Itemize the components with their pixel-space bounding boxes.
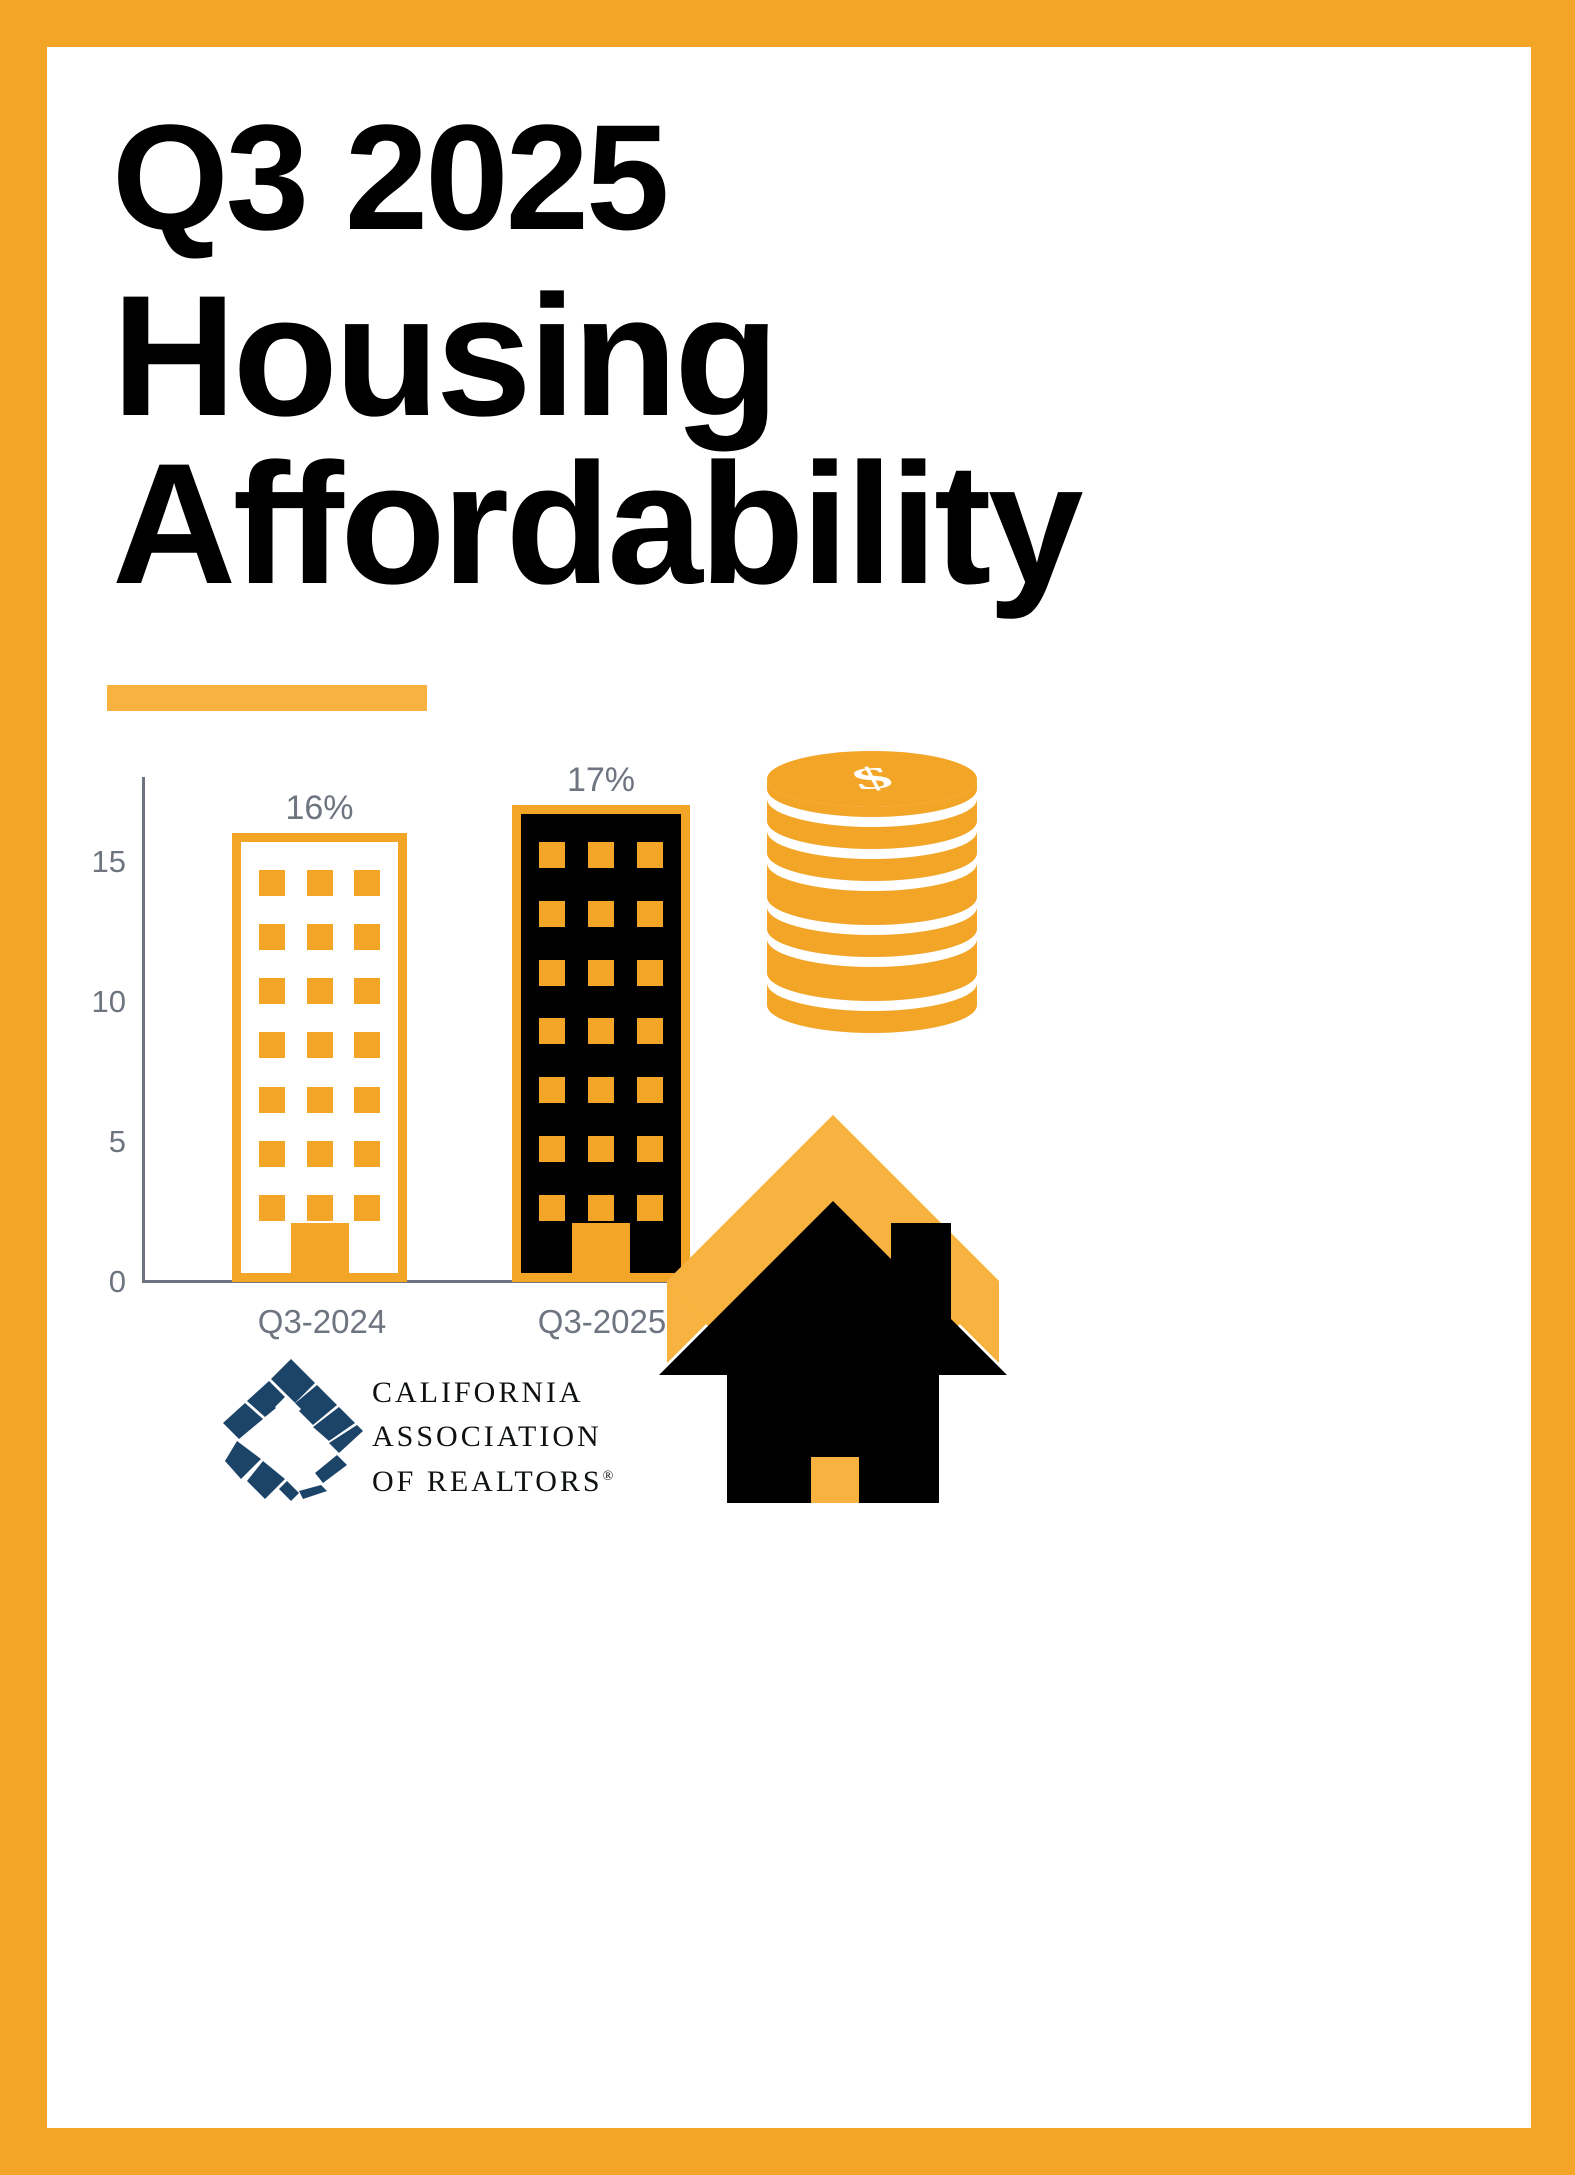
registered-trademark-icon: ® xyxy=(603,1469,614,1484)
coin-stack-icon: $ xyxy=(737,737,1007,1057)
window-cell xyxy=(354,1087,380,1113)
y-tick-15: 15 xyxy=(92,844,142,880)
y-tick-5: 5 xyxy=(109,1124,142,1160)
window-cell xyxy=(307,1195,333,1221)
window-cell xyxy=(259,870,285,896)
page-title: Q3 2025 Housing Affordability xyxy=(112,105,1472,608)
window-cell xyxy=(307,1087,333,1113)
window-cell xyxy=(539,1136,565,1162)
house-icon xyxy=(647,1097,1007,1517)
car-logo-line3: OF REALTORS® xyxy=(372,1460,613,1504)
window-cell xyxy=(588,842,614,868)
car-logo-line1: CALIFORNIA xyxy=(372,1371,613,1415)
window-cell xyxy=(307,924,333,950)
window-cell xyxy=(354,978,380,1004)
window-cell xyxy=(588,960,614,986)
bar-label-q3-2024: 16% xyxy=(285,789,353,828)
window-cell xyxy=(637,1018,663,1044)
window-cell xyxy=(307,1032,333,1058)
title-accent-bar xyxy=(107,685,427,711)
car-logo-mark xyxy=(217,1355,365,1503)
house-door xyxy=(811,1457,859,1503)
window-cell xyxy=(354,1195,380,1221)
window-cell xyxy=(307,978,333,1004)
window-cell xyxy=(637,901,663,927)
window-cell xyxy=(588,1018,614,1044)
window-cell xyxy=(637,842,663,868)
window-cell xyxy=(539,1195,565,1221)
window-cell xyxy=(259,978,285,1004)
y-tick-0: 0 xyxy=(109,1264,142,1300)
building-windows-2024 xyxy=(241,870,398,1221)
headline-line2: Affordability xyxy=(112,441,1472,608)
bar-q3-2024[interactable]: 16% xyxy=(232,833,407,1282)
car-logo-line2: ASSOCIATION xyxy=(372,1415,613,1459)
window-cell xyxy=(539,1018,565,1044)
affordability-bar-chart: 0 5 10 15 16% xyxy=(67,747,707,1377)
window-cell xyxy=(259,1141,285,1167)
window-cell xyxy=(259,1087,285,1113)
window-cell xyxy=(259,924,285,950)
y-tick-10: 10 xyxy=(92,984,142,1020)
window-cell xyxy=(354,1141,380,1167)
car-logo-line3-text: OF REALTORS xyxy=(372,1465,603,1498)
window-cell xyxy=(259,1195,285,1221)
headline-line1: Housing xyxy=(112,273,1472,440)
headline-quarter: Q3 2025 xyxy=(112,105,1472,251)
window-cell xyxy=(354,870,380,896)
window-cell xyxy=(307,1141,333,1167)
window-cell xyxy=(354,1032,380,1058)
window-cell xyxy=(539,960,565,986)
window-cell xyxy=(354,924,380,950)
car-logo-text: CALIFORNIA ASSOCIATION OF REALTORS® xyxy=(372,1371,613,1504)
window-cell xyxy=(588,1077,614,1103)
bar-label-q3-2025: 17% xyxy=(567,761,635,800)
chart-plot-area: 16% 17% xyxy=(142,777,682,1282)
window-cell xyxy=(539,842,565,868)
poster-canvas: Q3 2025 Housing Affordability 0 5 10 15 … xyxy=(47,47,1531,2128)
building-door-2024 xyxy=(291,1223,349,1273)
window-cell xyxy=(539,901,565,927)
window-cell xyxy=(637,960,663,986)
car-logo: CALIFORNIA ASSOCIATION OF REALTORS® xyxy=(217,1347,637,1507)
window-cell xyxy=(588,1195,614,1221)
building-door-2025 xyxy=(572,1223,630,1273)
window-cell xyxy=(588,901,614,927)
window-cell xyxy=(539,1077,565,1103)
poster-frame: Q3 2025 Housing Affordability 0 5 10 15 … xyxy=(0,0,1575,2175)
window-cell xyxy=(307,870,333,896)
window-cell xyxy=(588,1136,614,1162)
window-cell xyxy=(259,1032,285,1058)
